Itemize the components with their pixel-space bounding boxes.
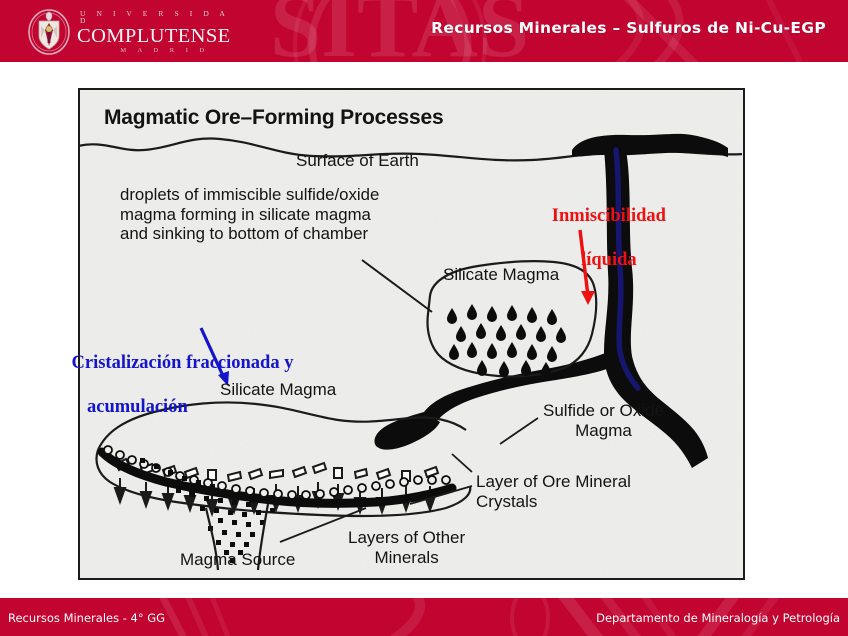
logo-line-complutense: COMPLUTENSE xyxy=(77,26,231,47)
slide-body: Magmatic Ore–Forming Processes Surface o… xyxy=(0,62,848,598)
label-layer-of-ore-mineral-crystals: Layer of Ore Mineral Crystals xyxy=(476,472,631,512)
complutense-crest-icon xyxy=(27,8,71,56)
label-magma-source: Magma Source xyxy=(180,550,295,569)
slide-footer: Recursos Minerales - 4° GG Departamento … xyxy=(0,598,848,636)
annotation-blue-line1: Cristalización fraccionada y xyxy=(72,353,294,373)
annotation-red-line1: Inmiscibilidad xyxy=(552,206,666,226)
annotation-red-line2: líquida xyxy=(581,250,637,270)
logo-line-universidad: U N I V E R S I D A D xyxy=(77,10,231,25)
footer-department-label: Departamento de Mineralogía y Petrología xyxy=(596,611,840,625)
annotation-inmiscibilidad-liquida: Inmiscibilidad líquida xyxy=(505,183,685,293)
footer-course-label: Recursos Minerales - 4° GG xyxy=(8,611,165,625)
label-sulfide-or-oxide-magma: Sulfide or Oxide Magma xyxy=(543,401,664,441)
logo-line-madrid: M A D R I D xyxy=(77,48,231,55)
label-surface-of-earth: Surface of Earth xyxy=(296,151,419,170)
page-title: Recursos Minerales – Sulfuros de Ni-Cu-E… xyxy=(431,19,826,37)
slide-header: SITAS xyxy=(0,0,848,62)
annotation-cristalizacion-fraccionada: Cristalización fraccionada y acumulación xyxy=(43,330,353,462)
sulfide-droplets xyxy=(447,304,566,378)
figure-title: Magmatic Ore–Forming Processes xyxy=(104,106,443,130)
university-logo: U N I V E R S I D A D COMPLUTENSE M A D … xyxy=(27,6,217,58)
annotation-blue-line2: acumulación xyxy=(53,396,353,418)
label-droplets-description: droplets of immiscible sulfide/oxide mag… xyxy=(120,185,379,244)
label-layers-of-other-minerals: Layers of Other Minerals xyxy=(348,528,465,568)
